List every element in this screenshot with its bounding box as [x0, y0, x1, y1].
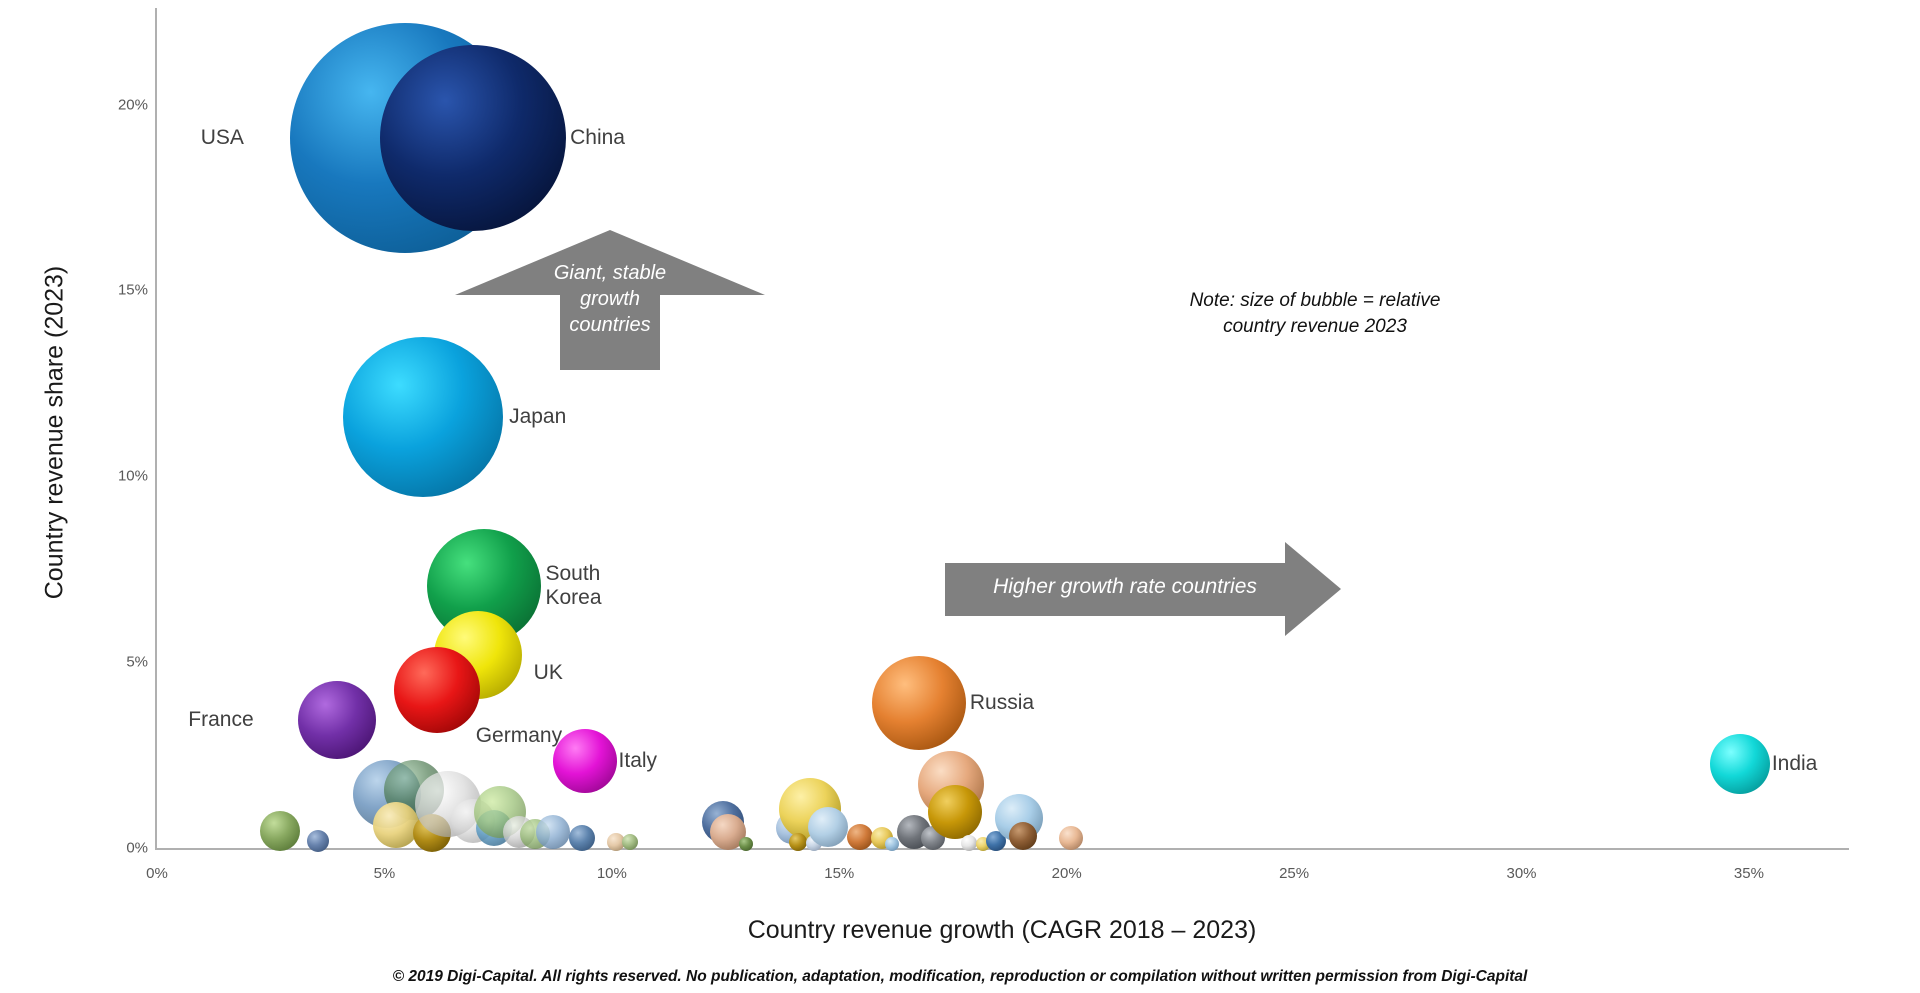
bubble-label-uk: UK — [534, 661, 563, 685]
bubble-label-india: India — [1772, 752, 1818, 776]
x-tick-label: 35% — [1734, 865, 1764, 882]
bubble-label-japan: Japan — [509, 405, 566, 429]
bubble-unlabeled[interactable] — [961, 835, 977, 851]
bubble-unlabeled[interactable] — [1009, 822, 1037, 850]
x-tick-label: 0% — [146, 865, 168, 882]
x-tick-label: 25% — [1279, 865, 1309, 882]
y-axis-line — [155, 8, 157, 849]
y-tick-label: 15% — [106, 282, 148, 299]
y-axis-title: Country revenue share (2023) — [41, 173, 70, 693]
bubble-china[interactable] — [380, 45, 566, 231]
bubble-label-italy: Italy — [619, 749, 658, 773]
bubble-unlabeled[interactable] — [1059, 826, 1083, 850]
bubble-italy[interactable] — [553, 729, 617, 793]
copyright-footer: © 2019 Digi-Capital. All rights reserved… — [0, 968, 1920, 986]
y-axis-ticks: 0%5%10%15%20% — [98, 0, 148, 850]
y-tick-label: 20% — [106, 96, 148, 113]
y-tick-label: 0% — [106, 840, 148, 857]
bubble-france[interactable] — [298, 681, 376, 759]
annotation-arrow-right: Higher growth rate countries — [945, 542, 1380, 637]
bubble-unlabeled[interactable] — [739, 837, 753, 851]
bubble-label-germany: Germany — [476, 724, 562, 748]
bubble-india[interactable] — [1710, 734, 1770, 794]
x-tick-label: 15% — [824, 865, 854, 882]
arrow-right-head — [1285, 542, 1341, 636]
x-tick-label: 30% — [1507, 865, 1537, 882]
y-tick-label: 10% — [106, 468, 148, 485]
bubble-unlabeled[interactable] — [373, 802, 419, 848]
bubble-chart: 0%5%10%15%20% 0%5%10%15%20%25%30%35% USA… — [0, 0, 1920, 993]
x-tick-label: 10% — [597, 865, 627, 882]
bubble-label-russia: Russia — [970, 691, 1034, 715]
x-tick-label: 20% — [1052, 865, 1082, 882]
bubble-label-usa: USA — [201, 126, 244, 150]
bubble-russia[interactable] — [872, 656, 966, 750]
x-axis-title: Country revenue growth (CAGR 2018 – 2023… — [155, 916, 1849, 945]
bubble-unlabeled[interactable] — [885, 837, 899, 851]
bubble-size-note: Note: size of bubble = relative country … — [1150, 288, 1480, 339]
arrow-right-label: Higher growth rate countries — [965, 575, 1285, 599]
x-tick-label: 5% — [374, 865, 396, 882]
bubble-germany[interactable] — [394, 647, 480, 733]
y-tick-label: 5% — [106, 654, 148, 671]
bubble-label-south-korea: South Korea — [545, 562, 601, 610]
arrow-up-label: Giant, stable growth countries — [495, 260, 725, 338]
bubble-unlabeled[interactable] — [928, 785, 982, 839]
bubble-unlabeled[interactable] — [260, 811, 300, 851]
bubble-label-france: France — [188, 708, 253, 732]
bubble-unlabeled[interactable] — [789, 833, 807, 851]
bubble-unlabeled[interactable] — [847, 824, 873, 850]
annotation-arrow-up: Giant, stable growth countries — [455, 230, 765, 370]
bubble-unlabeled[interactable] — [808, 807, 848, 847]
bubble-unlabeled[interactable] — [569, 825, 595, 851]
bubble-unlabeled[interactable] — [536, 815, 570, 849]
bubble-unlabeled[interactable] — [307, 830, 329, 852]
bubble-label-china: China — [570, 126, 625, 150]
bubble-unlabeled[interactable] — [622, 834, 638, 850]
